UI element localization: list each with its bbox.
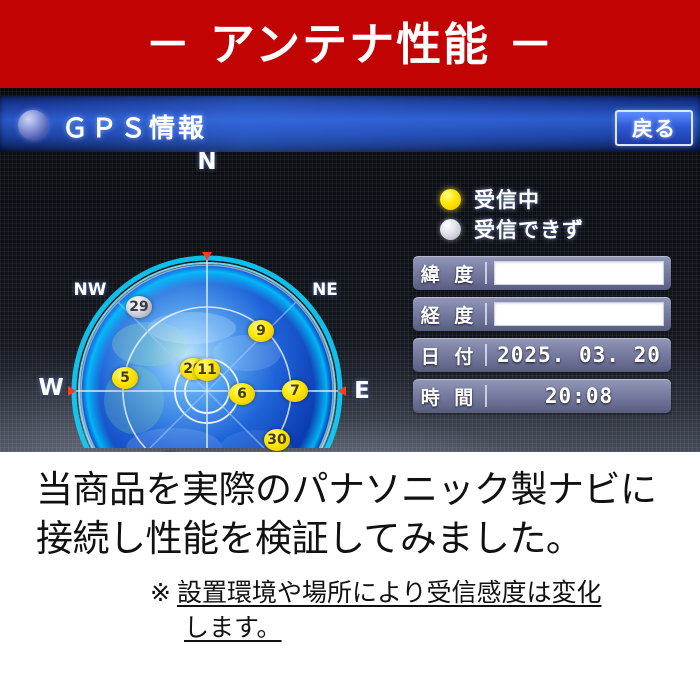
back-button[interactable]: 戻る <box>615 110 693 146</box>
info-value-date-wrap: 2025. 03. 20 <box>487 343 671 367</box>
legend-label-not-receiving: 受信できず <box>474 214 584 244</box>
blue-orb-icon <box>18 110 48 140</box>
info-label-date: 日 付 <box>413 342 485 369</box>
info-value-time: 20:08 <box>545 384 613 408</box>
satellite-marker: 7 <box>282 380 308 402</box>
info-label-latitude: 緯 度 <box>413 260 485 287</box>
compass-label-ne: NE <box>312 280 338 300</box>
info-row-latitude: 緯 度 <box>413 256 671 290</box>
legend-dot-off-icon <box>440 219 461 240</box>
caption-block: 当商品を実際のパナソニック製ナビに 接続し性能を検証してみました。 ※設置環境や… <box>0 452 700 700</box>
satellite-marker: 5 <box>112 367 138 389</box>
back-button-label: 戻る <box>632 113 676 143</box>
compass-label-e: E <box>354 378 370 404</box>
compass-label-nw: NW <box>74 280 107 300</box>
caption-note-text-2: します。 <box>184 613 282 642</box>
header-banner: － アンテナ性能 － <box>0 0 700 88</box>
caption-line-2: 接続し性能を検証してみました。 <box>36 515 676 564</box>
legend-row-receiving: 受信中 <box>440 184 584 214</box>
banner-title: － アンテナ性能 － <box>145 22 555 67</box>
legend-dot-on-icon <box>440 189 461 210</box>
info-row-longitude: 経 度 <box>413 297 671 331</box>
info-label-longitude: 経 度 <box>413 301 485 328</box>
legend-label-receiving: 受信中 <box>474 184 540 214</box>
gps-info-rows: 緯 度 経 度 日 付 2025. 03. 20 <box>413 256 671 420</box>
caption-line-1: 当商品を実際のパナソニック製ナビに <box>36 466 676 515</box>
caption-note-line-1: ※設置環境や場所により受信感度は変化 <box>150 576 680 611</box>
info-label-time: 時 間 <box>413 383 485 410</box>
satellite-marker: 30 <box>264 429 290 451</box>
satellite-marker: 11 <box>194 359 220 381</box>
compass-label-w: W <box>38 375 63 401</box>
legend-row-not-receiving: 受信できず <box>440 214 584 244</box>
info-value-longitude-wrap <box>487 302 671 326</box>
caption-note-text-1: 設置環境や場所により受信感度は変化 <box>177 578 602 607</box>
screen-bezel-top <box>0 88 700 96</box>
reception-legend: 受信中 受信できず <box>440 184 584 244</box>
info-value-latitude-wrap <box>487 261 671 285</box>
info-value-date: 2025. 03. 20 <box>497 343 661 367</box>
page-root: － アンテナ性能 － ＧＰＳ情報 戻る <box>0 0 700 700</box>
satellite-marker: 29 <box>126 296 152 318</box>
caption-note: ※設置環境や場所により受信感度は変化 します。 <box>150 576 680 645</box>
caption-main-text: 当商品を実際のパナソニック製ナビに 接続し性能を検証してみました。 <box>36 466 676 564</box>
info-value-latitude <box>494 261 664 285</box>
compass-label-n: N <box>197 149 216 175</box>
note-mark-icon: ※ <box>150 578 171 607</box>
satellite-marker: 9 <box>248 320 274 342</box>
caption-note-line-2: します。 <box>150 611 680 646</box>
gps-title-bar: ＧＰＳ情報 戻る <box>0 96 700 152</box>
gps-screen-title: ＧＰＳ情報 <box>62 108 207 145</box>
navi-screen-photo: ＧＰＳ情報 戻る <box>0 88 700 452</box>
satellite-marker: 6 <box>229 383 255 405</box>
info-value-time-wrap: 20:08 <box>487 384 671 408</box>
info-row-time: 時 間 20:08 <box>413 379 671 413</box>
info-value-longitude <box>494 302 664 326</box>
satellite-skyplot: N E S W NE SE SW NW 29 9 20 11 5 6 7 30 … <box>42 148 372 448</box>
info-row-date: 日 付 2025. 03. 20 <box>413 338 671 372</box>
